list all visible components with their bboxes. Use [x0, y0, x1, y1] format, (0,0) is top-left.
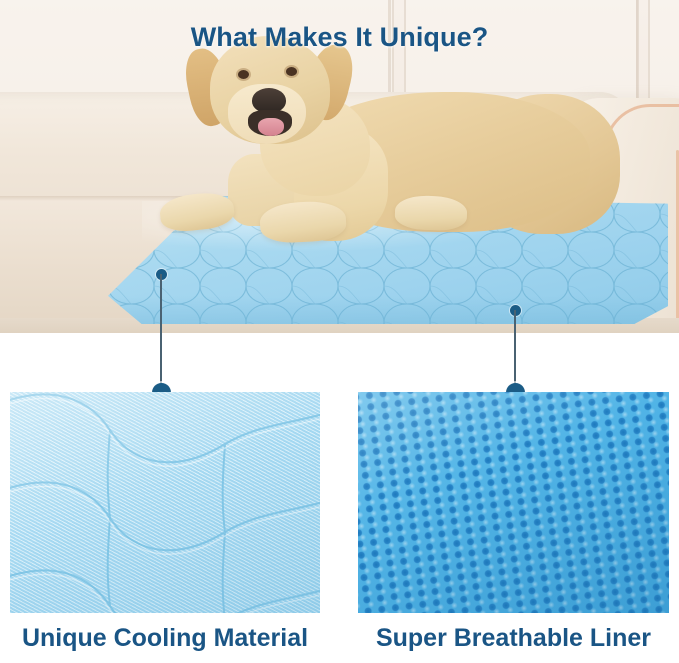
dog-paw-left — [158, 190, 235, 234]
quilt-shading-overlay — [10, 392, 320, 613]
detail-panel-cooling-material — [10, 392, 320, 613]
page-title: What Makes It Unique? — [0, 22, 679, 53]
dog-eye-left — [238, 70, 249, 79]
dog-subject — [140, 34, 610, 249]
panel-caption-cooling-material: Unique Cooling Material — [10, 624, 320, 653]
dog-mouth — [248, 110, 292, 136]
dog-tongue — [258, 118, 284, 136]
dog-paw-right — [394, 195, 467, 231]
panel-caption-breathable-liner: Super Breathable Liner — [358, 624, 669, 653]
callout-line-cooling-material — [160, 274, 162, 394]
callout-line-breathable-liner — [514, 310, 516, 394]
detail-panel-breathable-liner — [358, 392, 669, 613]
mesh-shading-overlay — [358, 392, 669, 613]
dog-eye-right — [286, 67, 297, 76]
